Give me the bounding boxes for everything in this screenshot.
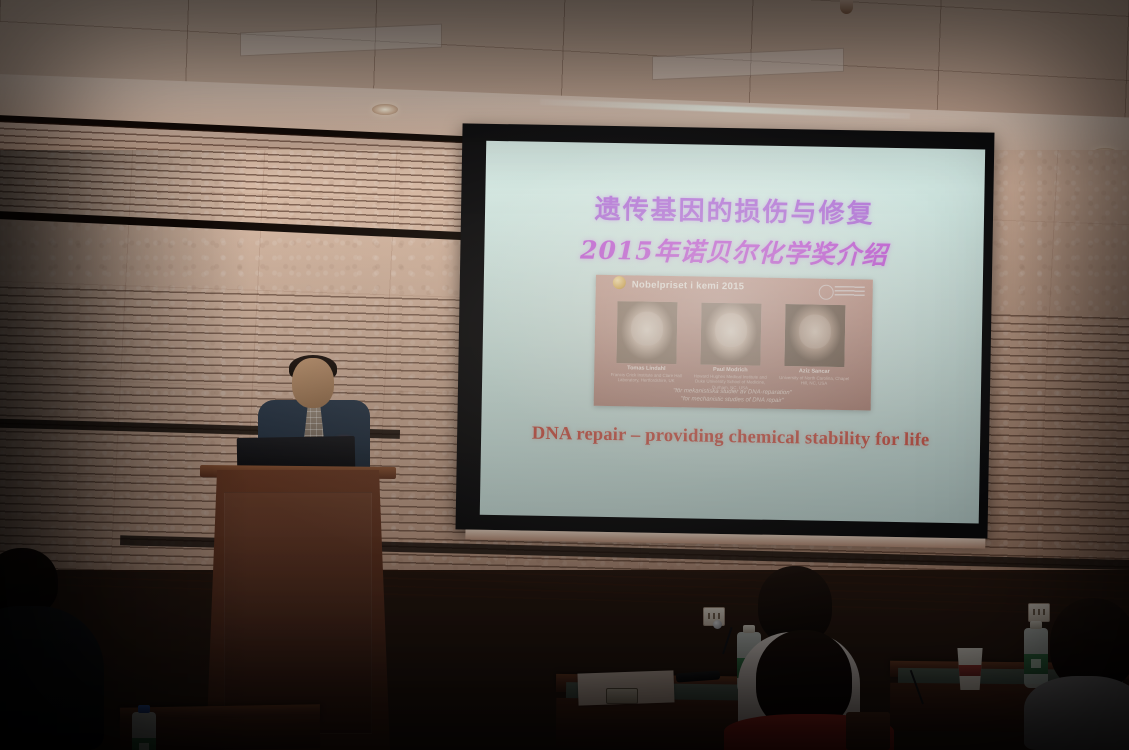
desk-microphone-head (713, 620, 722, 629)
attendee-shoulders (0, 606, 104, 750)
laureate-portrait (784, 304, 845, 367)
academy-logo-icon (819, 284, 867, 301)
lecture-hall-photo: 遗传基因的损伤与修复 2015年诺贝尔化学奖介绍 Nobelpriset i k… (0, 0, 1129, 750)
slide-subtitle-chinese: 2015年诺贝尔化学奖介绍 (484, 229, 984, 274)
laureate-affiliation: University of North Carolina, Chapel Hil… (776, 375, 852, 387)
slide-caption-english: DNA repair – providing chemical stabilit… (481, 423, 980, 453)
slide-title-chinese: 遗传基因的损伤与修复 (485, 187, 985, 233)
chair-back (846, 712, 890, 750)
wall-outlet (1028, 603, 1050, 622)
mobile-phone (606, 688, 638, 704)
nobel-prize-photo: Nobelpriset i kemi 2015 Tomas Lindahl Fr… (594, 275, 873, 411)
projection-screen: 遗传基因的损伤与修复 2015年诺贝尔化学奖介绍 Nobelpriset i k… (455, 123, 994, 538)
desk-microphone-stem (722, 627, 733, 654)
water-bottle (132, 712, 156, 750)
water-bottle (1024, 628, 1048, 688)
nobel-medal-icon (613, 276, 626, 289)
nobel-card-header: Nobelpriset i kemi 2015 (632, 279, 745, 292)
attendee-shoulders (1024, 676, 1129, 750)
screen-surface: 遗传基因的损伤与修复 2015年诺贝尔化学奖介绍 Nobelpriset i k… (480, 141, 985, 524)
laureate-portrait (616, 301, 677, 364)
recessed-downlight (372, 104, 398, 115)
laureate-portrait (700, 303, 761, 366)
speaker-head (292, 358, 334, 408)
laureate-affiliation: Francis Crick Institute and Clare Hall L… (608, 372, 684, 384)
ceiling-pendant-fixture (840, 0, 853, 14)
podium-front-panel (224, 492, 372, 734)
